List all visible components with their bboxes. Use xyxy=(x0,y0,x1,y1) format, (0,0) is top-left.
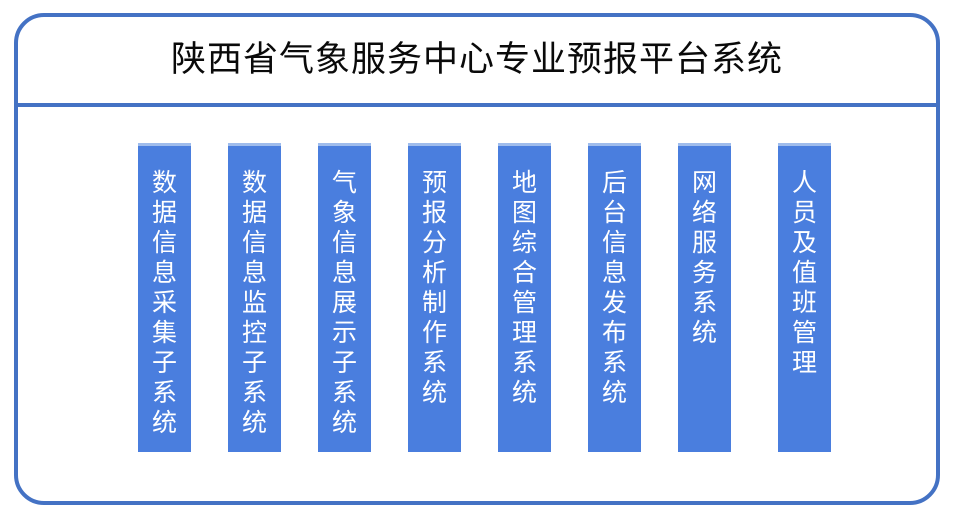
module-bar-label: 数据信息采集子系统 xyxy=(151,169,178,452)
module-bar[interactable]: 数据信息采集子系统 xyxy=(138,143,191,452)
page-title: 陕西省气象服务中心专业预报平台系统 xyxy=(171,41,783,80)
title-band: 陕西省气象服务中心专业预报平台系统 xyxy=(18,17,936,103)
module-bars-row: 数据信息采集子系统数据信息监控子系统气象信息展示子系统预报分析制作系统地图综合管… xyxy=(18,107,936,501)
module-bar[interactable]: 人员及值班管理 xyxy=(778,143,831,452)
diagram-canvas: 陕西省气象服务中心专业预报平台系统 数据信息采集子系统数据信息监控子系统气象信息… xyxy=(0,0,955,521)
module-bar-label: 网络服务系统 xyxy=(691,169,718,452)
module-bar[interactable]: 气象信息展示子系统 xyxy=(318,143,371,452)
modules-area: 数据信息采集子系统数据信息监控子系统气象信息展示子系统预报分析制作系统地图综合管… xyxy=(18,107,936,501)
module-bar-label: 数据信息监控子系统 xyxy=(241,169,268,452)
module-bar-label: 气象信息展示子系统 xyxy=(331,169,358,452)
module-bar-label: 后台信息发布系统 xyxy=(601,169,628,452)
module-bar[interactable]: 网络服务系统 xyxy=(678,143,731,452)
module-bar[interactable]: 地图综合管理系统 xyxy=(498,143,551,452)
module-bar-label: 地图综合管理系统 xyxy=(511,169,538,452)
module-bar[interactable]: 预报分析制作系统 xyxy=(408,143,461,452)
module-bar[interactable]: 后台信息发布系统 xyxy=(588,143,641,452)
module-bar-label: 人员及值班管理 xyxy=(791,169,818,452)
module-bar-label: 预报分析制作系统 xyxy=(421,169,448,452)
module-bar[interactable]: 数据信息监控子系统 xyxy=(228,143,281,452)
